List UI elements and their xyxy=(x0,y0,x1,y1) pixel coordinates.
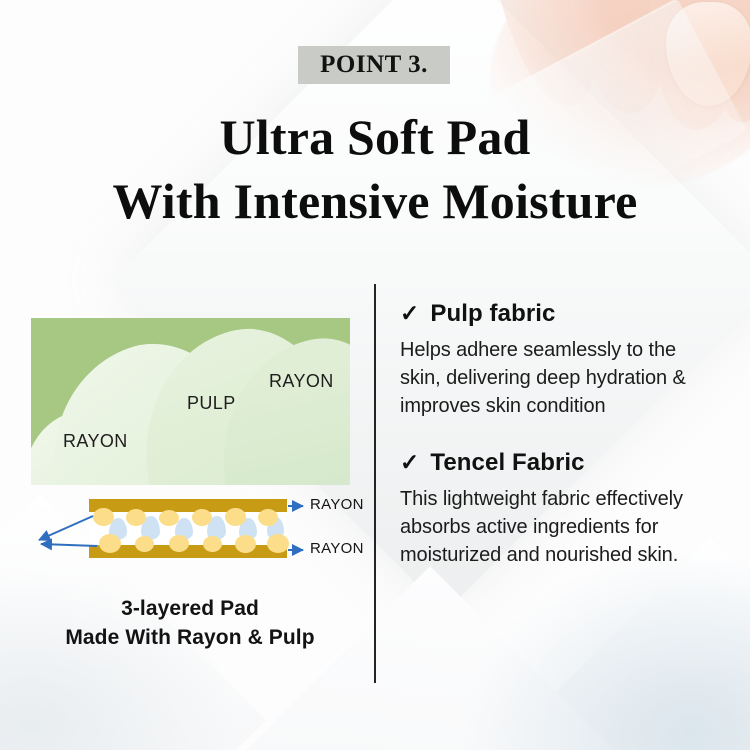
fabric-label-rayon-left: RAYON xyxy=(63,431,128,452)
check-icon: ✓ xyxy=(400,449,419,476)
fabric-label-pulp: PULP xyxy=(187,393,236,414)
check-icon: ✓ xyxy=(400,300,419,327)
fabric-illustration-panel: RAYON PULP RAYON xyxy=(31,318,350,485)
feature-title: Tencel Fabric xyxy=(430,449,584,477)
cross-section-band-top xyxy=(89,499,287,512)
fiber-dot xyxy=(225,508,246,526)
fiber-dot xyxy=(169,535,189,552)
feature-item-tencel-fabric: ✓ Tencel Fabric This lightweight fabric … xyxy=(400,449,720,569)
point-badge-label: POINT 3. xyxy=(320,51,428,79)
fiber-dot xyxy=(135,536,154,552)
feature-description: This lightweight fabric effectively abso… xyxy=(400,485,720,569)
pad-cross-section-diagram: RAYON RAYON xyxy=(31,492,351,568)
rayon-pointer-bottom-icon xyxy=(287,541,311,557)
fiber-dot xyxy=(235,535,256,553)
page-title: Ultra Soft Pad With Intensive Moisture xyxy=(0,105,750,233)
feature-title: Pulp fabric xyxy=(430,300,555,328)
feature-description: Helps adhere seamlessly to the skin, del… xyxy=(400,336,720,420)
illustration-caption: 3-layered Pad Made With Rayon & Pulp xyxy=(0,594,380,652)
rayon-pointer-top-icon xyxy=(287,497,311,513)
fiber-dot xyxy=(267,534,289,553)
vertical-divider xyxy=(374,284,376,683)
fiber-dot xyxy=(258,509,278,526)
feature-heading: ✓ Pulp fabric xyxy=(400,300,720,328)
page-title-line-2: With Intensive Moisture xyxy=(0,169,750,233)
features-list: ✓ Pulp fabric Helps adhere seamlessly to… xyxy=(400,300,720,569)
cross-section-label-rayon-bottom: RAYON xyxy=(310,540,364,557)
fiber-dot xyxy=(126,509,146,526)
page-title-line-1: Ultra Soft Pad xyxy=(219,109,530,165)
fiber-dot xyxy=(192,509,212,526)
absorption-arrows-icon xyxy=(31,502,111,564)
background-tint-right xyxy=(460,550,750,750)
fabric-label-rayon-right: RAYON xyxy=(269,371,334,392)
feature-heading: ✓ Tencel Fabric xyxy=(400,449,720,477)
feature-item-pulp-fabric: ✓ Pulp fabric Helps adhere seamlessly to… xyxy=(400,300,720,420)
fiber-dot xyxy=(203,536,222,552)
point-badge: POINT 3. xyxy=(298,46,450,84)
cross-section-label-rayon-top: RAYON xyxy=(310,496,364,513)
fiber-dot xyxy=(159,510,179,526)
caption-line-1: 3-layered Pad xyxy=(121,597,259,620)
caption-line-2: Made With Rayon & Pulp xyxy=(0,623,380,652)
